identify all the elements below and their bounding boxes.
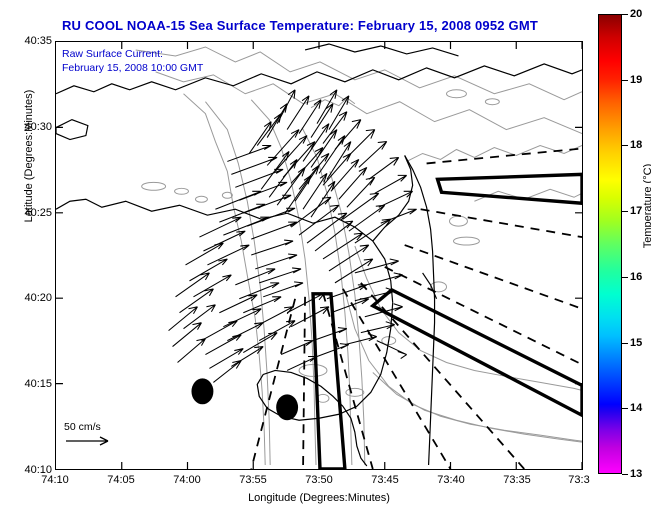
surface-current-vectors [169,90,417,383]
y-tick-4: 40:15 [4,378,52,390]
page-title: RU COOL NOAA-15 Sea Surface Temperature:… [0,18,600,33]
x-tick-1: 74:05 [107,474,135,486]
x-axis-tick-labels: 74:10 74:05 74:00 73:55 73:50 73:45 73:4… [55,474,583,490]
x-tick-0: 74:10 [41,474,69,486]
x-tick-6: 73:40 [437,474,465,486]
scale-bar-label: 50 cm/s [64,421,116,433]
x-tick-5: 73:45 [371,474,399,486]
x-tick-2: 74:00 [173,474,201,486]
x-tick-7: 73:35 [503,474,531,486]
map-plot-area[interactable]: Raw Surface Current: February 15, 2008 1… [55,41,583,470]
figure-canvas: RU COOL NOAA-15 Sea Surface Temperature:… [0,0,651,518]
y-axis-title: Latitude (Degrees:Minutes) [23,71,35,241]
cb-tick-13: 13 [630,468,642,480]
annotation-line-2: February 15, 2008 10:00 GMT [62,61,203,75]
annotation-line-1: Raw Surface Current: [62,47,203,61]
y-tick-0: 40:35 [4,35,52,47]
station-markers [191,378,298,420]
annotation-block: Raw Surface Current: February 15, 2008 1… [62,47,203,75]
y-tick-3: 40:20 [4,292,52,304]
map-graphics [56,42,582,469]
scale-bar-arrow-icon [64,435,116,447]
x-axis-title: Longitude (Degrees:Minutes) [55,492,583,504]
cb-tick-16: 16 [630,271,642,283]
cb-tick-18: 18 [630,139,642,151]
cb-tick-20: 20 [630,8,642,20]
cb-tick-14: 14 [630,402,642,414]
cb-tick-15: 15 [630,337,642,349]
x-tick-8: 73:3 [568,474,589,486]
cb-tick-19: 19 [630,74,642,86]
x-tick-4: 73:50 [305,474,333,486]
cb-tick-17: 17 [630,205,642,217]
x-tick-3: 73:55 [239,474,267,486]
colorbar-title: Temperature (°C) [642,141,651,271]
scale-bar: 50 cm/s [64,421,116,447]
